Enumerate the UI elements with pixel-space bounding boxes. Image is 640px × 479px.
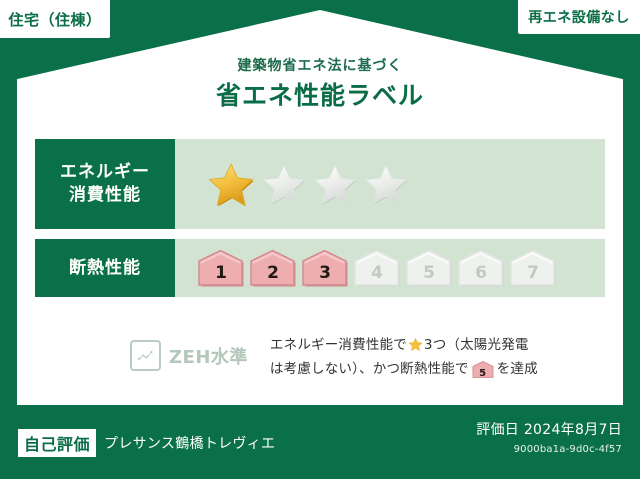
insulation-grade-badge: 7: [509, 248, 557, 288]
renewable-energy-tag: 再エネ設備なし: [518, 0, 640, 34]
insulation-label-line1: 断熱性能: [69, 257, 141, 280]
insulation-grade-number: 6: [475, 263, 487, 288]
insulation-grade-badge: 2: [249, 248, 297, 288]
zeh-badge: ZEH水準: [130, 340, 248, 371]
zeh-desc-line2-pre: は考慮しない）、かつ断熱性能で: [270, 361, 469, 377]
insulation-grade-number: 2: [267, 263, 279, 288]
label-subtitle: 建築物省エネ法に基づく: [0, 58, 640, 75]
insulation-grade-badge: 4: [353, 248, 401, 288]
zeh-description: エネルギー消費性能で3つ（太陽光発電 は考慮しない）、かつ断熱性能で5を達成: [270, 334, 538, 381]
insulation-rating-body: 1234567: [175, 239, 605, 297]
self-evaluation-block: 自己評価 プレサンス鶴橋トレヴィエ: [18, 429, 275, 457]
evaluation-date: 評価日 2024年8月7日: [476, 419, 622, 439]
insulation-grade-badge: 1: [197, 248, 245, 288]
page-title: 省エネ性能ラベル: [0, 81, 640, 111]
zeh-standard-block: ZEH水準 エネルギー消費性能で3つ（太陽光発電 は考慮しない）、かつ断熱性能で…: [130, 334, 538, 381]
insulation-grade-number: 5: [423, 263, 435, 288]
insulation-grade-badge: 6: [457, 248, 505, 288]
star-empty-icon: [262, 162, 306, 206]
insulation-grade-number: 4: [371, 263, 383, 288]
inline-star-icon: [408, 337, 423, 352]
energy-rating-body: [175, 139, 605, 229]
zeh-description-line1: エネルギー消費性能で3つ（太陽光発電: [270, 334, 538, 358]
insulation-grade-number: 1: [215, 263, 227, 288]
evaluation-meta: 評価日 2024年8月7日 9000ba1a-9d0c-4f57: [476, 419, 622, 455]
inline-grade-number: 5: [479, 368, 486, 379]
energy-performance-row: エネルギー 消費性能: [35, 139, 605, 229]
footer-bar: 自己評価 プレサンス鶴橋トレヴィエ 評価日 2024年8月7日 9000ba1a…: [0, 405, 640, 479]
inline-grade-badge: 5: [472, 361, 494, 376]
star-empty-icon: [313, 162, 357, 206]
insulation-grade-badge: 5: [405, 248, 453, 288]
star-empty-icon: [364, 162, 408, 206]
energy-label-line2: 消費性能: [69, 184, 141, 207]
zeh-desc-line2-post: を達成: [497, 361, 538, 377]
zeh-desc-line1-pre: エネルギー消費性能で: [270, 337, 407, 353]
self-evaluation-badge: 自己評価: [18, 429, 96, 457]
energy-performance-label: エネルギー 消費性能: [35, 139, 175, 229]
energy-performance-label: 住宅（住棟） 再エネ設備なし 建築物省エネ法に基づく 省エネ性能ラベル エネルギ…: [0, 0, 640, 479]
insulation-grade-badge: 3: [301, 248, 349, 288]
zeh-chart-icon: [130, 340, 161, 371]
star-rating: [207, 160, 408, 208]
zeh-badge-label: ZEH水準: [169, 343, 248, 369]
insulation-grade-scale: 1234567: [197, 248, 557, 288]
document-id: 9000ba1a-9d0c-4f57: [476, 444, 622, 455]
insulation-performance-label: 断熱性能: [35, 239, 175, 297]
building-type-tag-label: 住宅（住棟）: [8, 9, 101, 30]
heading-block: 建築物省エネ法に基づく 省エネ性能ラベル: [0, 58, 640, 111]
zeh-description-line2: は考慮しない）、かつ断熱性能で5を達成: [270, 358, 538, 382]
building-name: プレサンス鶴橋トレヴィエ: [104, 433, 275, 453]
insulation-grade-number: 7: [527, 263, 539, 288]
building-type-tag: 住宅（住棟）: [0, 0, 110, 38]
zeh-desc-line1-post: 3つ（太陽光発電: [424, 337, 529, 353]
star-filled-icon: [207, 160, 255, 208]
insulation-grade-number: 3: [319, 263, 331, 288]
renewable-energy-tag-label: 再エネ設備なし: [528, 7, 630, 27]
insulation-performance-row: 断熱性能 1234567: [35, 239, 605, 297]
energy-label-line1: エネルギー: [60, 161, 150, 184]
